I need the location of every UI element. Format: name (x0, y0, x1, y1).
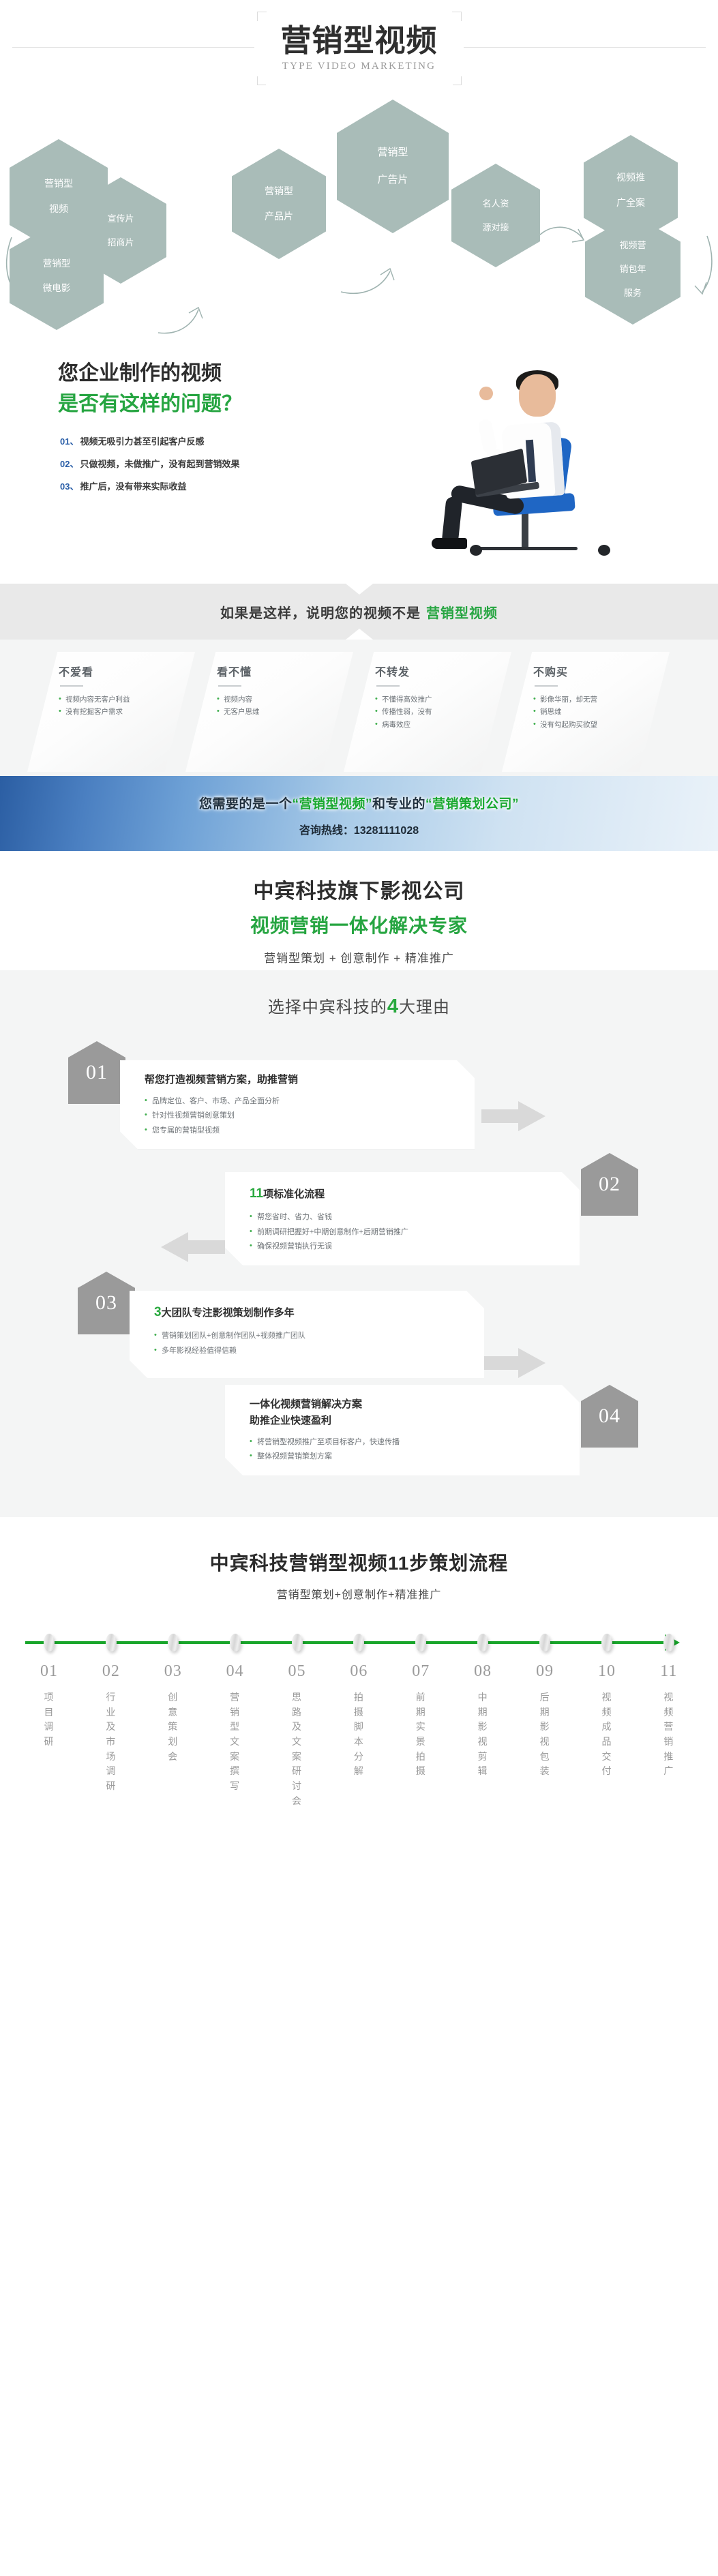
timeline-step[interactable]: 01 项 目 调 研 (18, 1629, 80, 1809)
company-services: 营销型策划 + 创意制作 + 精准推广 (0, 948, 718, 965)
problem-card[interactable]: 看不懂 视频内容 无客户思维 (185, 652, 353, 772)
strip-prefix: 如果是这样，说明您的视频不是 (220, 606, 421, 621)
reason-bullet: 帮您省时、省力、省钱 (250, 1210, 559, 1225)
timeline-dot-icon (230, 1634, 241, 1651)
problem-card-bullet: 没有勾起购买欲望 (533, 719, 670, 731)
reason-card-04[interactable]: 一体化视频营销解决方案助推企业快速盈利 将营销型视频推广至项目标客户，快速传播 … (225, 1385, 580, 1476)
reason-bullet: 将营销型视频推广至项目标客户，快速传播 (250, 1435, 559, 1450)
reason-heading-number: 11 (250, 1186, 263, 1201)
timeline-step-number: 07 (390, 1662, 452, 1681)
problem-card-title: 不转发 (375, 663, 511, 679)
problem-card-title: 不购买 (533, 663, 670, 679)
flow-title: 中宾科技营销型视频11步策划流程 (0, 1548, 718, 1576)
company-name: 中宾科技旗下影视公司 (0, 874, 718, 904)
reason-card-heading: 一体化视频营销解决方案助推企业快速盈利 (250, 1396, 559, 1429)
reason-badge-01: 01 (68, 1041, 125, 1104)
problem-card-bullet: 无客户思维 (217, 706, 353, 718)
reason-heading-text: 项标准化流程 (263, 1188, 325, 1200)
hex-label-line2: 广告片 (374, 173, 410, 187)
reasons-title-number: 4 (387, 995, 399, 1017)
timeline-step[interactable]: 10 视 频 成 品 交 付 (576, 1629, 638, 1809)
divider (535, 685, 558, 687)
timeline-step[interactable]: 09 后 期 影 视 包 装 (514, 1629, 576, 1809)
timeline-step-number: 04 (204, 1662, 266, 1681)
timeline-dot-icon (539, 1634, 550, 1651)
reason-card-heading: 帮您打造视频营销方案，助推营销 (145, 1072, 454, 1088)
timeline-step-label: 行 业 及 市 场 调 研 (80, 1690, 142, 1794)
problem-item-number: 02、 (60, 459, 78, 469)
problem-card-bullet: 传播性弱，没有 (375, 706, 511, 718)
timeline-dot-icon (106, 1634, 117, 1651)
timeline-step-number: 05 (266, 1662, 328, 1681)
problem-card-bullet: 视频内容 (217, 693, 353, 706)
timeline-step[interactable]: 05 思 路 及 文 案 研 讨 会 (266, 1629, 328, 1809)
timeline-step-label: 视 频 营 销 推 广 (638, 1690, 700, 1779)
cta-middle: 和专业的 (372, 797, 425, 811)
problem-item-text: 只做视频，未做推广，没有起到营销效果 (80, 459, 239, 469)
reason-heading-text-2: 助推企业快速盈利 (250, 1415, 331, 1426)
hex-label-line1: 营销型 (262, 185, 296, 198)
problem-item-text: 视频无吸引力甚至引起客户反感 (80, 436, 204, 447)
reasons-section: 选择中宾科技的4大理由 01 帮您打造视频营销方案，助推营销 品牌定位、客户、市… (0, 970, 718, 1517)
timeline-step-number: 01 (18, 1662, 80, 1681)
timeline-dot-icon (415, 1634, 426, 1651)
problem-card-bullet: 销思维 (533, 706, 670, 718)
hex-label-line2: 招商片 (104, 237, 136, 249)
problem-item-number: 01、 (60, 436, 78, 447)
divider (376, 685, 400, 687)
notch-top-icon (346, 584, 373, 595)
reason-bullet: 针对性视频营销创意策划 (145, 1109, 454, 1123)
reasons-steps: 01 帮您打造视频营销方案，助推营销 品牌定位、客户、市场、产品全面分析 针对性… (0, 1036, 718, 1486)
timeline-step-label: 前 期 实 景 拍 摄 (390, 1690, 452, 1779)
problem-card-title: 不爱看 (59, 663, 195, 679)
timeline-step[interactable]: 07 前 期 实 景 拍 摄 (390, 1629, 452, 1809)
timeline-dot-icon (44, 1634, 55, 1651)
company-slogan: 视频营销一体化解决专家 (0, 911, 718, 938)
reason-heading-text: 一体化视频营销解决方案 (250, 1398, 362, 1410)
hex-label-line3: 服务 (616, 287, 648, 299)
timeline-step-number: 03 (142, 1662, 204, 1681)
problem-card-bullet: 没有挖掘客户需求 (59, 706, 195, 718)
reason-card-03[interactable]: 3大团队专注影视策划制作多年 营销策划团队+创意制作团队+视频推广团队 多年影视… (130, 1291, 484, 1378)
hex-label-line1: 名人资 (479, 198, 511, 210)
hex-ad-film[interactable]: 营销型 广告片 (337, 100, 449, 233)
problem-card[interactable]: 不爱看 视频内容无客户利益 没有挖掘客户需求 (27, 652, 195, 772)
timeline-step[interactable]: 06 拍 摄 脚 本 分 解 (328, 1629, 390, 1809)
timeline-step-label: 中 期 影 视 剪 辑 (452, 1690, 514, 1779)
timeline-step[interactable]: 11 视 频 营 销 推 广 (638, 1629, 700, 1809)
reason-bullet: 营销策划团队+创意制作团队+视频推广团队 (154, 1329, 464, 1343)
cta-banner: 您需要的是一个“营销型视频”和专业的“营销策划公司” 咨询热线：13281111… (0, 776, 718, 851)
flow-title-number: 11 (388, 1553, 410, 1574)
timeline-step[interactable]: 02 行 业 及 市 场 调 研 (80, 1629, 142, 1809)
reason-badge-03: 03 (78, 1272, 135, 1334)
hex-label-line2: 视频 (42, 203, 76, 215)
hex-label-line2: 微电影 (40, 282, 74, 295)
cta-quote-video: “营销型视频” (292, 797, 372, 811)
problem-cards-section: 不爱看 视频内容无客户利益 没有挖掘客户需求 看不懂 视频内容 无客户思维 (0, 640, 718, 776)
divider (60, 685, 83, 687)
timeline-dot-icon (168, 1634, 179, 1651)
timeline-step-label: 营 销 型 文 案 撰 写 (204, 1690, 266, 1794)
conclusion-strip: 如果是这样，说明您的视频不是营销型视频 (0, 584, 718, 640)
reason-bullet: 多年影视经验值得信赖 (154, 1344, 464, 1358)
reason-bullet: 前期调研把握好+中期创意制作+后期营销推广 (250, 1225, 559, 1240)
reason-bullet: 您专属的营销型视频 (145, 1124, 454, 1138)
logo-rule-left (12, 47, 254, 48)
timeline-step-number: 06 (328, 1662, 390, 1681)
logo-frame: 营销型视频 TYPE VIDEO MARKETING (257, 12, 462, 85)
timeline-step-number: 08 (452, 1662, 514, 1681)
reason-bullet: 确保视频营销执行无误 (250, 1240, 559, 1254)
reason-card-heading: 11项标准化流程 (250, 1184, 559, 1204)
timeline-step-label: 创 意 策 划 会 (142, 1690, 204, 1764)
problem-section: 您企业制作的视频 是否有这样的问题？ 01、视频无吸引力甚至引起客户反感 02、… (0, 344, 718, 580)
logo-block: 营销型视频 TYPE VIDEO MARKETING (0, 11, 718, 86)
hex-label-line1: 营销型 (374, 146, 410, 160)
hex-label-line2: 源对接 (479, 222, 511, 234)
reason-card-02[interactable]: 11项标准化流程 帮您省时、省力、省钱 前期调研把握好+中期创意制作+后期营销推… (225, 1172, 580, 1265)
reasons-title-suffix: 大理由 (399, 998, 450, 1017)
reason-heading-text: 帮您打造视频营销方案，助推营销 (145, 1074, 298, 1085)
problem-item-text: 推广后，没有带来实际收益 (80, 481, 186, 492)
timeline-step-label: 拍 摄 脚 本 分 解 (328, 1690, 390, 1779)
timeline-step[interactable]: 04 营 销 型 文 案 撰 写 (204, 1629, 266, 1809)
flow-title-suffix: 步策划流程 (409, 1553, 508, 1574)
problem-card-title: 看不懂 (217, 663, 353, 679)
hex-annual-service[interactable]: 视频营 销包年 服务 (585, 214, 680, 325)
timeline-dot-icon (353, 1634, 364, 1651)
cta-banner-line1: 您需要的是一个“营销型视频”和专业的“营销策划公司” (0, 794, 718, 812)
hex-label-line1: 营销型 (40, 258, 74, 270)
timeline-step-number: 11 (638, 1662, 700, 1681)
hex-celebrity[interactable]: 名人资 源对接 (451, 164, 540, 267)
timeline-step-number: 10 (576, 1662, 638, 1681)
reasons-title: 选择中宾科技的4大理由 (0, 993, 718, 1018)
timeline-step-label: 后 期 影 视 包 装 (514, 1690, 576, 1779)
logo-title-cn: 营销型视频 (280, 25, 437, 58)
timeline-step[interactable]: 03 创 意 策 划 会 (142, 1629, 204, 1809)
hex-label-line1: 视频营 (616, 239, 648, 252)
timeline-step-number: 02 (80, 1662, 142, 1681)
problem-card[interactable]: 不转发 不懂得高效推广 传播性弱，没有 病毒效应 (344, 652, 511, 772)
reason-card-heading: 3大团队专注影视策划制作多年 (154, 1302, 464, 1323)
problem-card-bullet: 视频内容无客户利益 (59, 693, 195, 706)
reason-heading-number: 3 (154, 1305, 162, 1319)
timeline-dot-icon (663, 1634, 674, 1651)
reason-bullet: 品牌定位、客户、市场、产品全面分析 (145, 1094, 454, 1109)
timeline-dot-icon (601, 1634, 612, 1651)
reasons-title-prefix: 选择中宾科技的 (268, 998, 387, 1017)
problem-item-number: 03、 (60, 481, 78, 492)
reason-badge-04: 04 (581, 1385, 638, 1448)
hex-product-film[interactable]: 营销型 产品片 (232, 149, 326, 259)
businessman-photo (428, 351, 653, 556)
logo-rule-right (464, 47, 706, 48)
timeline-dot-icon (477, 1634, 488, 1651)
flow-section: 中宾科技营销型视频11步策划流程 营销型策划+创意制作+精准推广 01 项 目 … (0, 1517, 718, 1854)
hex-label-line1: 视频推 (614, 171, 648, 184)
flow-title-prefix: 中宾科技营销型视频 (210, 1553, 388, 1574)
cta-hotline[interactable]: 咨询热线：13281111028 (0, 821, 718, 837)
cta-prefix: 您需要的是一个 (199, 797, 293, 811)
flow-timeline: 01 项 目 调 研 02 行 业 及 市 场 调 研 03 创 意 策 划 会… (18, 1629, 700, 1827)
reason-card-01[interactable]: 帮您打造视频营销方案，助推营销 品牌定位、客户、市场、产品全面分析 针对性视频营… (120, 1060, 475, 1149)
hero-section: 营销型视频 TYPE VIDEO MARKETING 营销型 视频 (0, 0, 718, 344)
timeline-step[interactable]: 08 中 期 影 视 剪 辑 (452, 1629, 514, 1809)
timeline-dot-icon (292, 1634, 303, 1651)
reason-badge-02: 02 (581, 1153, 638, 1216)
cta-quote-company: “营销策划公司” (425, 797, 519, 811)
notch-bottom-icon (346, 629, 373, 640)
hex-label-line2: 产品片 (262, 210, 296, 223)
strip-highlight: 营销型视频 (426, 606, 498, 621)
timeline-step-label: 视 频 成 品 交 付 (576, 1690, 638, 1779)
conclusion-strip-text: 如果是这样，说明您的视频不是营销型视频 (220, 602, 498, 622)
logo-title-en: TYPE VIDEO MARKETING (282, 61, 436, 72)
problem-card-bullet: 影像华丽，却无营 (533, 693, 670, 706)
reason-bullet: 整体视频营销策划方案 (250, 1450, 559, 1464)
hex-label-line1: 营销型 (42, 177, 76, 190)
company-intro-section: 中宾科技旗下影视公司 视频营销一体化解决专家 营销型策划 + 创意制作 + 精准… (0, 851, 718, 970)
hex-label-line1: 宣传片 (104, 213, 136, 225)
flow-subtitle: 营销型策划+创意制作+精准推广 (0, 1585, 718, 1602)
divider (218, 685, 241, 687)
hexagon-cluster: 营销型 视频 宣传片 招商片 营销型 产品片 营销型 广告片 名人资 源对接 (0, 80, 718, 340)
landing-page: 营销型视频 TYPE VIDEO MARKETING 营销型 视频 (0, 0, 718, 1854)
hex-label-line2: 销包年 (616, 263, 648, 275)
timeline-step-number: 09 (514, 1662, 576, 1681)
problem-card[interactable]: 不购买 影像华丽，却无营 销思维 没有勾起购买欲望 (502, 652, 670, 772)
problem-card-bullet: 不懂得高效推广 (375, 693, 511, 706)
timeline-step-label: 思 路 及 文 案 研 讨 会 (266, 1690, 328, 1809)
reason-heading-text: 大团队专注影视策划制作多年 (162, 1307, 295, 1319)
problem-card-bullet: 病毒效应 (375, 719, 511, 731)
hex-label-line2: 广全案 (614, 196, 648, 209)
timeline-step-label: 项 目 调 研 (18, 1690, 80, 1750)
